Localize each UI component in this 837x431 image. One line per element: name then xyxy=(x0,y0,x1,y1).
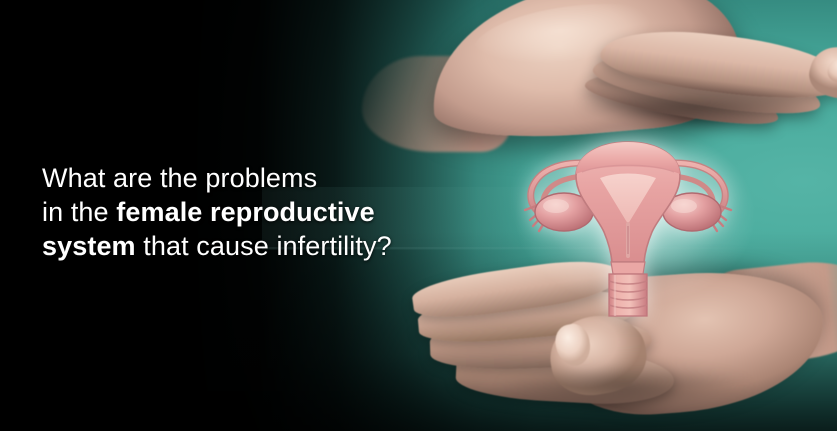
headline-line-1: What are the problems xyxy=(42,161,462,195)
page-title: What are the problems in the female repr… xyxy=(42,161,462,263)
infertility-banner: What are the problems in the female repr… xyxy=(0,0,837,431)
hand-bottom-shadow xyxy=(444,362,804,422)
headline-line-3-suffix: that cause infertility? xyxy=(136,231,392,261)
uterus-illustration xyxy=(508,128,748,318)
headline-line-1-text: What are the problems xyxy=(42,163,317,193)
headline-line-3: system that cause infertility? xyxy=(42,229,462,263)
headline-line-2: in the female reproductive xyxy=(42,195,462,229)
headline-line-2-emphasis: female reproductive xyxy=(116,197,375,227)
headline-line-3-emphasis: system xyxy=(42,231,136,261)
headline-line-2-prefix: in the xyxy=(42,197,116,227)
